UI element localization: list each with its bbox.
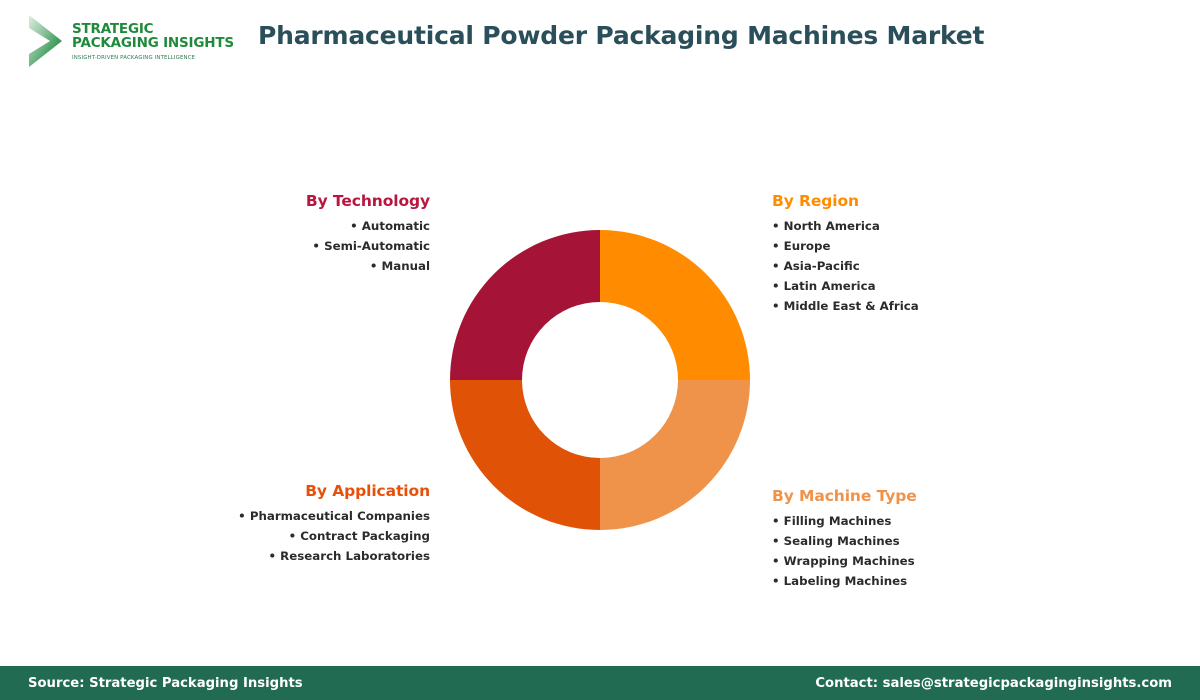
footer-contact[interactable]: Contact: sales@strategicpackaginginsight… — [815, 676, 1172, 691]
donut-slice-machine-type[interactable] — [600, 380, 750, 530]
footer-bar: Source: Strategic Packaging Insights Con… — [0, 666, 1200, 700]
list-item: • Europe — [772, 236, 1052, 256]
list-item: • Contract Packaging — [170, 526, 430, 546]
list-item: • Semi-Automatic — [170, 236, 430, 256]
segment-region-list: • North America • Europe • Asia-Pacific … — [772, 216, 1052, 316]
infographic-canvas: STRATEGIC PACKAGING INSIGHTS INSIGHT-DRI… — [0, 0, 1200, 700]
brand-text: STRATEGIC PACKAGING INSIGHTS INSIGHT-DRI… — [72, 22, 234, 61]
brand-tagline: INSIGHT-DRIVEN PACKAGING INTELLIGENCE — [72, 55, 234, 61]
segment-technology-list: • Automatic • Semi-Automatic • Manual — [170, 216, 430, 276]
segment-machine-type: By Machine Type • Filling Machines • Sea… — [772, 487, 1052, 591]
segment-application-list: • Pharmaceutical Companies • Contract Pa… — [170, 506, 430, 566]
segment-application-title: By Application — [170, 482, 430, 500]
brand-line-2: PACKAGING INSIGHTS — [72, 36, 234, 50]
donut-chart-svg — [450, 230, 750, 530]
brand-line-1: STRATEGIC — [72, 22, 234, 36]
list-item: • Sealing Machines — [772, 531, 1052, 551]
segment-technology-title: By Technology — [170, 192, 430, 210]
donut-chart — [450, 230, 750, 530]
donut-slice-region[interactable] — [600, 230, 750, 380]
list-item: • Pharmaceutical Companies — [170, 506, 430, 526]
donut-slice-technology[interactable] — [450, 230, 600, 380]
green-chevron-icon — [24, 12, 66, 70]
list-item: • Labeling Machines — [772, 571, 1052, 591]
page-title: Pharmaceutical Powder Packaging Machines… — [258, 21, 984, 50]
segment-application: By Application • Pharmaceutical Companie… — [170, 482, 430, 566]
list-item: • Manual — [170, 256, 430, 276]
list-item: • Latin America — [772, 276, 1052, 296]
donut-slice-application[interactable] — [450, 380, 600, 530]
list-item: • Research Laboratories — [170, 546, 430, 566]
brand-logo: STRATEGIC PACKAGING INSIGHTS INSIGHT-DRI… — [24, 10, 200, 72]
segment-region-title: By Region — [772, 192, 1052, 210]
segment-region: By Region • North America • Europe • Asi… — [772, 192, 1052, 316]
segment-technology: By Technology • Automatic • Semi-Automat… — [170, 192, 430, 276]
footer-source: Source: Strategic Packaging Insights — [28, 676, 303, 691]
segment-machine-type-list: • Filling Machines • Sealing Machines • … — [772, 511, 1052, 591]
list-item: • Middle East & Africa — [772, 296, 1052, 316]
list-item: • Wrapping Machines — [772, 551, 1052, 571]
list-item: • Automatic — [170, 216, 430, 236]
list-item: • Asia-Pacific — [772, 256, 1052, 276]
list-item: • North America — [772, 216, 1052, 236]
segment-machine-type-title: By Machine Type — [772, 487, 1052, 505]
list-item: • Filling Machines — [772, 511, 1052, 531]
